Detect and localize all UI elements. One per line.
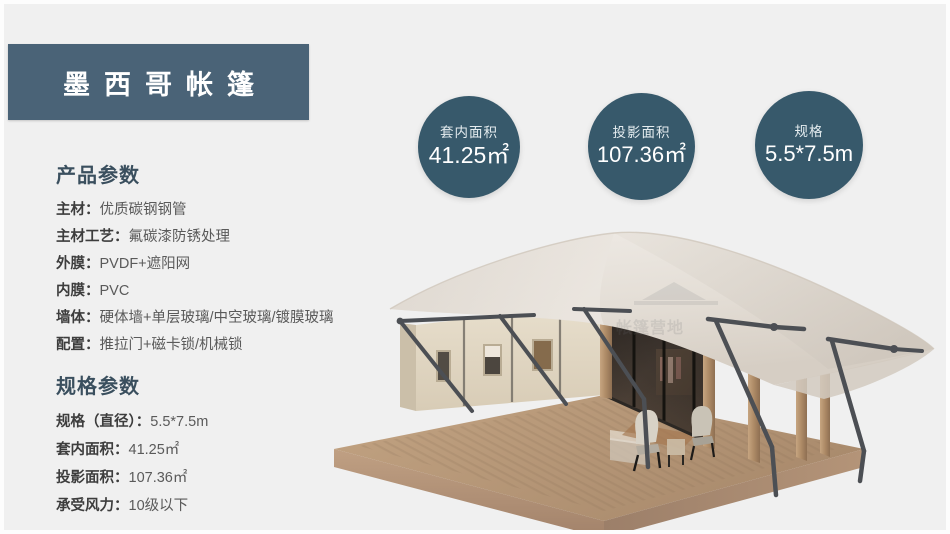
- deck-base: [334, 395, 864, 534]
- spec-value: 氟碳漆防锈处理: [129, 229, 231, 245]
- spec-label: 套内面积：: [56, 442, 129, 458]
- spec-label: 外膜：: [56, 256, 100, 272]
- spec-value: 硬体墙+单层玻璃/中空玻璃/镀膜玻璃: [100, 310, 334, 326]
- spec-label: 规格（直径）：: [56, 414, 150, 430]
- badge-label: 投影面积: [613, 125, 671, 141]
- spec-label: 主材：: [56, 202, 100, 218]
- spec-value: PVC: [100, 283, 130, 299]
- section-heading-product: 产品参数: [56, 164, 386, 188]
- spec-label: 内膜：: [56, 283, 100, 299]
- badge-value: 107.36㎡: [597, 142, 686, 167]
- spec-label: 投影面积：: [56, 470, 129, 486]
- spec-value: 41.25㎡: [129, 442, 180, 458]
- badge-value: 41.25㎡: [429, 142, 510, 168]
- badge-label: 规格: [795, 124, 824, 140]
- product-spec-page: 墨西哥帐篷 产品参数 主材：优质碳钢钢管 主材工艺：氟碳漆防锈处理 外膜：PVD…: [0, 0, 950, 534]
- spec-value: 优质碳钢钢管: [100, 202, 187, 218]
- spec-value: PVDF+遮阳网: [100, 256, 191, 272]
- badge-value: 5.5*7.5m: [765, 141, 853, 166]
- spec-value: 推拉门+磁卡锁/机械锁: [100, 337, 243, 353]
- badge-label: 套内面积: [440, 125, 498, 141]
- spec-label: 主材工艺：: [56, 229, 129, 245]
- tent-render-image: [304, 199, 950, 534]
- spec-value: 10级以下: [129, 498, 189, 514]
- spec-value: 5.5*7.5m: [150, 414, 208, 430]
- spec-label: 配置：: [56, 337, 100, 353]
- metric-badge-interior-area: 套内面积 41.25㎡: [418, 96, 520, 198]
- title-banner: 墨西哥帐篷: [8, 44, 309, 120]
- spec-label: 承受风力：: [56, 498, 129, 514]
- metric-badge-dimensions: 规格 5.5*7.5m: [755, 91, 863, 199]
- page-title: 墨西哥帐篷: [49, 63, 268, 102]
- metric-badge-projected-area: 投影面积 107.36㎡: [588, 93, 695, 200]
- spec-label: 墙体：: [56, 310, 100, 326]
- spec-value: 107.36㎡: [129, 470, 188, 486]
